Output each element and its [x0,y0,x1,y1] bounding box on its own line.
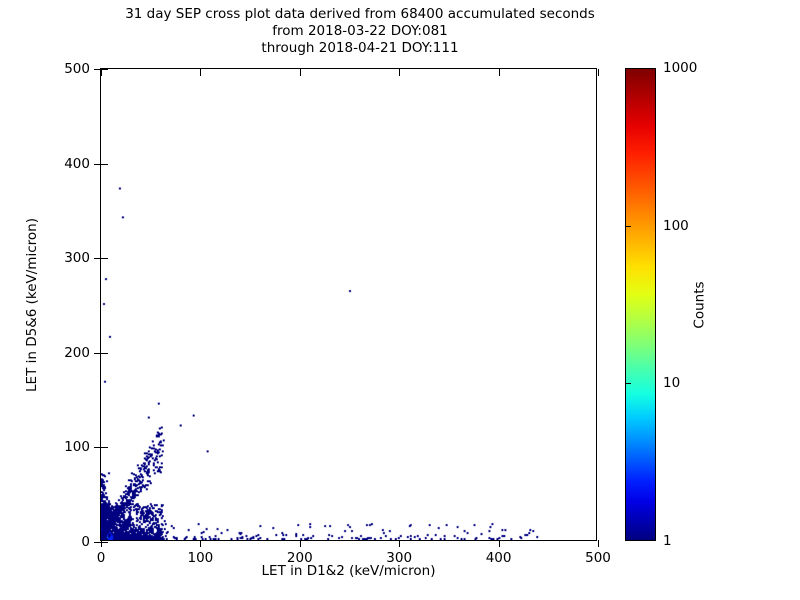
colorbar-tick-mark [625,383,631,384]
data-points-layer [101,69,596,540]
x-tick-mark [200,540,201,547]
colorbar-tick-mark [625,226,631,227]
colorbar-label: Counts [690,68,710,541]
y-tick-mark [94,69,101,70]
y-tick-label: 400 [64,156,90,172]
x-tick-mark [598,540,599,547]
y-tick-label: 100 [64,439,90,455]
y-tick-label: 0 [81,534,90,550]
x-tick-mark-inner [101,69,102,76]
title-line-2: from 2018-03-22 DOY:081 [0,23,720,40]
y-tick-label: 300 [64,250,90,266]
colorbar[interactable]: 1101001000 [625,68,656,541]
x-tick-mark [300,540,301,547]
x-tick-mark-inner [499,69,500,76]
y-axis-label: LET in D5&6 (keV/micron) [23,68,41,541]
y-tick-mark [94,447,101,448]
x-tick-mark [499,540,500,547]
x-tick-mark-inner [399,69,400,76]
y-tick-mark [94,164,101,165]
y-tick-mark [94,542,101,543]
title-line-1: 31 day SEP cross plot data derived from … [0,6,720,23]
chart-title: 31 day SEP cross plot data derived from … [0,6,720,57]
y-tick-mark-inner [101,353,108,354]
y-tick-mark-inner [101,69,108,70]
x-tick-mark-inner [300,69,301,76]
x-tick-mark-inner [598,69,599,76]
y-tick-mark [94,258,101,259]
y-tick-mark [94,353,101,354]
title-line-3: through 2018-04-21 DOY:111 [0,40,720,57]
x-tick-mark-inner [200,69,201,76]
y-tick-label: 200 [64,345,90,361]
y-tick-mark-inner [101,542,108,543]
plot-area[interactable]: 0100200300400500 0100200300400500 [100,68,597,541]
y-tick-mark-inner [101,164,108,165]
x-axis-label: LET in D1&2 (keV/micron) [100,563,597,579]
colorbar-tick-label: 10 [663,375,680,391]
colorbar-label-text: Counts [692,281,708,328]
y-tick-label: 500 [64,61,90,77]
colorbar-gradient [625,68,656,541]
x-tick-mark [101,540,102,547]
y-tick-mark-inner [101,258,108,259]
colorbar-tick-label: 1 [663,533,672,549]
y-tick-mark-inner [101,447,108,448]
y-axis-label-text: LET in D5&6 (keV/micron) [24,218,40,392]
x-tick-mark [399,540,400,547]
colorbar-tick-label: 100 [663,218,689,234]
scatter-plot-figure: 31 day SEP cross plot data derived from … [0,0,800,600]
